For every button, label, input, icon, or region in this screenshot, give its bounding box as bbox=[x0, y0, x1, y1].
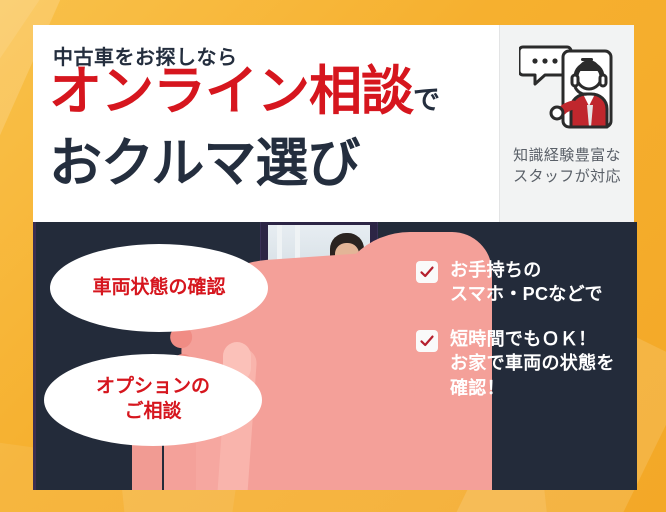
checklist-item-label: 短時間でもＯＫ！ お家で車両の状態を 確認！ bbox=[450, 327, 615, 400]
advertisement-banner: 中古車をお探しなら オンライン相談で おクルマ選び bbox=[0, 0, 666, 512]
header-text-area: 中古車をお探しなら オンライン相談で おクルマ選び bbox=[33, 25, 499, 222]
headline-primary-red: オンライン相談 bbox=[49, 62, 413, 121]
benefits-checklist: お手持ちの スマホ・PCなどで 短時間でもＯＫ！ お家で車両の状態を 確認！ bbox=[416, 258, 626, 420]
checklist-item: 短時間でもＯＫ！ お家で車両の状態を 確認！ bbox=[416, 327, 626, 400]
side-info-panel: 知識経験豊富な スタッフが対応 bbox=[499, 25, 634, 222]
checklist-item-label: お手持ちの スマホ・PCなどで bbox=[450, 258, 603, 307]
headline-primary: オンライン相談で bbox=[49, 65, 440, 118]
check-icon bbox=[416, 261, 438, 283]
headline-primary-suffix: で bbox=[413, 85, 440, 115]
headline-secondary: おクルマ選び bbox=[49, 137, 359, 190]
side-panel-caption: 知識経験豊富な スタッフが対応 bbox=[513, 145, 621, 188]
side-caption-line-1: 知識経験豊富な bbox=[513, 145, 621, 166]
check-icon bbox=[416, 330, 438, 352]
side-caption-line-2: スタッフが対応 bbox=[513, 166, 621, 187]
badge-option-consult[interactable]: オプションの ご相談 bbox=[44, 354, 262, 446]
badge-label: オプションの ご相談 bbox=[96, 375, 210, 424]
badge-label: 車両状態の確認 bbox=[92, 276, 225, 301]
header-card: 中古車をお探しなら オンライン相談で おクルマ選び bbox=[33, 25, 634, 222]
operator-headset-icon bbox=[519, 37, 615, 141]
checklist-item: お手持ちの スマホ・PCなどで bbox=[416, 258, 626, 307]
badge-vehicle-condition[interactable]: 車両状態の確認 bbox=[50, 244, 268, 332]
feature-panel: 車両状態の確認 オプションの ご相談 お手持ちの スマホ・PCなどで bbox=[33, 222, 637, 490]
